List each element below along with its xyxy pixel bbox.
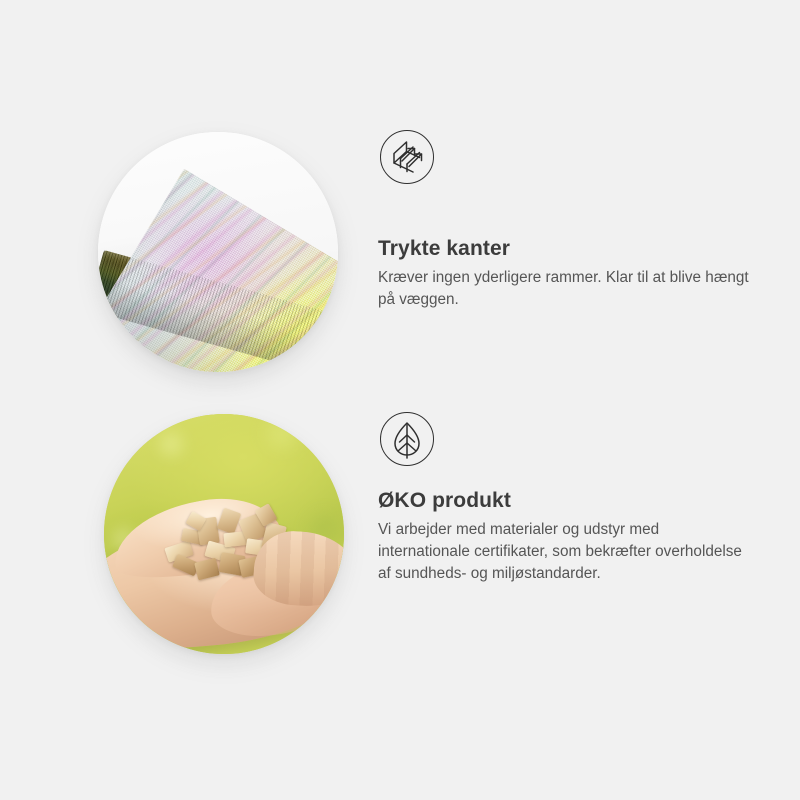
wrapped-canvas-edge-icon: [380, 130, 434, 184]
hands-wood-chips-photo: [104, 414, 344, 654]
photo-background: [104, 414, 344, 654]
feature-description: Vi arbejder med materialer og udstyr med…: [378, 519, 752, 584]
canvas-corner-photo: [98, 132, 338, 372]
product-features-page: Trykte kanter Kræver ingen yderligere ra…: [0, 0, 800, 800]
feature-title: Trykte kanter: [378, 236, 752, 261]
feature-text-printed-edges: Trykte kanter Kræver ingen yderligere ra…: [378, 236, 752, 311]
canvas-printed-edge: [98, 250, 338, 372]
feature-description: Kræver ingen yderligere rammer. Klar til…: [378, 267, 752, 310]
feature-title: ØKO produkt: [378, 488, 752, 513]
photo-background: [98, 132, 338, 372]
feature-block-printed-edges: Trykte kanter Kræver ingen yderligere ra…: [0, 118, 800, 388]
feature-block-eco-product: ØKO produkt Vi arbejder med materialer o…: [0, 400, 800, 670]
leaf-icon: [380, 412, 434, 466]
feature-text-eco-product: ØKO produkt Vi arbejder med materialer o…: [378, 488, 752, 584]
canvas-printed-face: [98, 169, 338, 372]
